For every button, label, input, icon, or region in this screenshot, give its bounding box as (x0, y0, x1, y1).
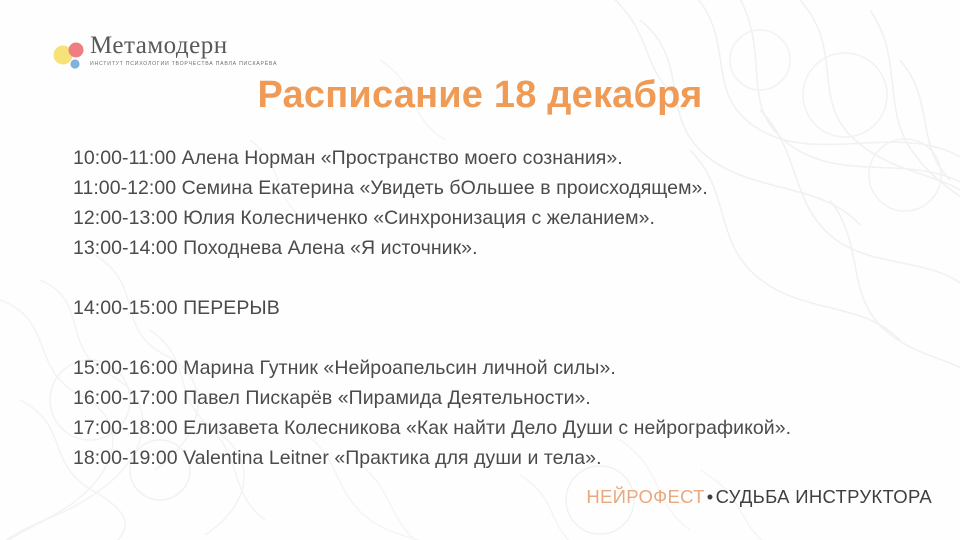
schedule-block-break: 14:00-15:00 ПЕРЕРЫВ (73, 293, 903, 323)
schedule-item: 10:00-11:00 Алена Норман «Пространство м… (73, 143, 903, 173)
schedule-block-morning: 10:00-11:00 Алена Норман «Пространство м… (73, 143, 903, 263)
logo-wordmark: Метамодерн (90, 33, 277, 59)
schedule-list: 10:00-11:00 Алена Норман «Пространство м… (73, 143, 903, 473)
schedule-item: 16:00-17:00 Павел Пискарёв «Пирамида Дея… (73, 383, 903, 413)
metamodern-circles-logo-icon (46, 34, 86, 74)
schedule-item: 11:00-12:00 Семина Екатерина «Увидеть бО… (73, 173, 903, 203)
schedule-item: 12:00-13:00 Юлия Колесниченко «Синхрониз… (73, 203, 903, 233)
slide-root: Метамодерн Институт Психологии Творчеств… (0, 0, 960, 540)
logo-subtitle: Институт Психологии Творчества Павла Пис… (90, 61, 277, 67)
schedule-item: 17:00-18:00 Елизавета Колесникова «Как н… (73, 413, 903, 443)
footer: НЕЙРОФЕСТ•СУДЬБА ИНСТРУКТОРА (586, 486, 932, 508)
schedule-item: 18:00-19:00 Valentina Leitner «Практика … (73, 443, 903, 473)
brand-logo: Метамодерн Институт Психологии Творчеств… (46, 33, 277, 74)
schedule-item-break: 14:00-15:00 ПЕРЕРЫВ (73, 293, 903, 323)
footer-brand: НЕЙРОФЕСТ (586, 486, 704, 507)
footer-separator-bullet: • (705, 486, 716, 507)
page-title: Расписание 18 декабря (0, 74, 960, 117)
schedule-spacer (73, 263, 903, 293)
schedule-spacer (73, 323, 903, 353)
schedule-block-afternoon: 15:00-16:00 Марина Гутник «Нейроапельсин… (73, 353, 903, 473)
footer-tagline: СУДЬБА ИНСТРУКТОРА (716, 486, 932, 507)
schedule-item: 13:00-14:00 Походнева Алена «Я источник»… (73, 233, 903, 263)
schedule-item: 15:00-16:00 Марина Гутник «Нейроапельсин… (73, 353, 903, 383)
